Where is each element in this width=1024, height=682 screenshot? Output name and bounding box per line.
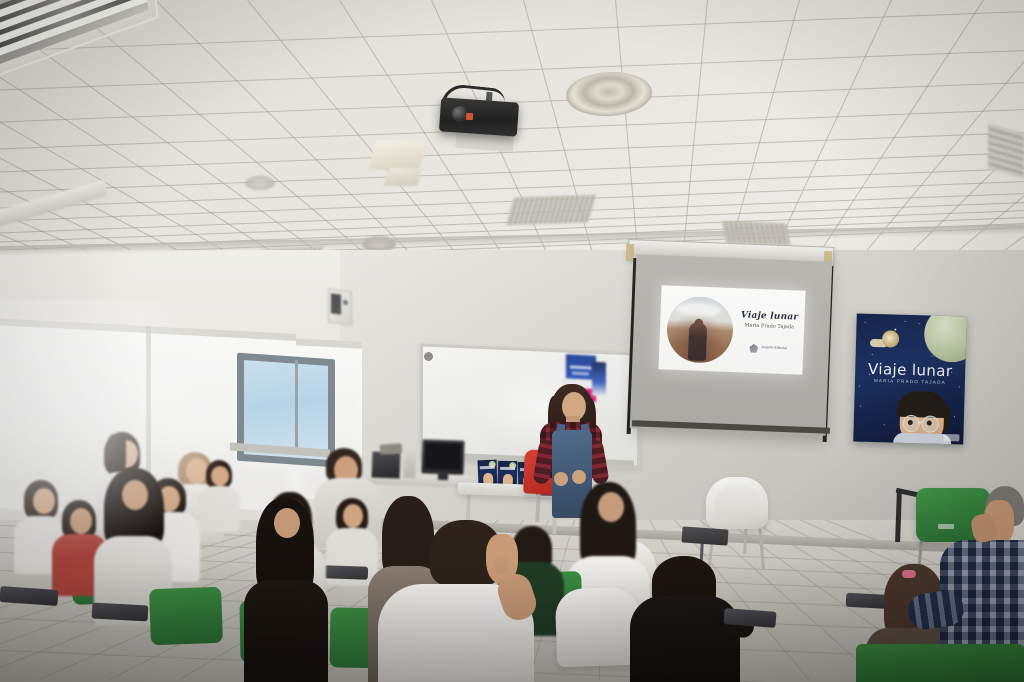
- whiteboard-clip: [424, 352, 433, 361]
- slide-author: Maria Prado Tajada: [738, 322, 800, 330]
- poster-star: [859, 386, 860, 387]
- chair-tablet-arm: [92, 603, 149, 622]
- poster-publisher-badge: [943, 434, 959, 441]
- poster-star: [905, 321, 906, 322]
- hair-tie: [902, 570, 916, 578]
- wall-device-button: [343, 300, 348, 306]
- ceiling-vent: [506, 195, 597, 226]
- audience-chair-white-foreground[interactable]: [555, 587, 642, 668]
- white-chair-seat-inner: [714, 484, 760, 518]
- poster-star: [959, 386, 960, 387]
- ceiling-grid-band: [0, 48, 1024, 92]
- poster-star: [884, 424, 885, 425]
- publisher-logo-icon: [749, 344, 758, 353]
- book-title-bar: [500, 467, 515, 470]
- poster-boy-eye-left: [908, 420, 913, 425]
- projected-slide: Viaje lunar Maria Prado Tajada Amarillo …: [658, 285, 805, 374]
- person-torso: [630, 596, 740, 682]
- chair-tablet-arm: [324, 565, 368, 580]
- poster-star: [860, 406, 861, 407]
- computer-tower: [403, 446, 416, 478]
- av-equipment-box: [372, 452, 401, 479]
- person-ear: [494, 556, 508, 574]
- poster-star: [932, 356, 933, 357]
- person-head: [274, 508, 300, 538]
- ceiling-speaker-secondary: [245, 176, 275, 190]
- small-side-table[interactable]: [681, 526, 728, 545]
- audience-chair-green[interactable]: [149, 587, 223, 645]
- publisher-logo-text: Amarillo Editorial: [761, 345, 787, 351]
- ceiling-panel-light: [367, 140, 429, 170]
- presenter-hand-left: [554, 472, 568, 486]
- slide-photo-sky: [676, 302, 723, 318]
- monitor-screen: [425, 442, 462, 469]
- person-torso: [244, 580, 328, 682]
- poster-glasses-bridge: [918, 421, 923, 423]
- ceiling-grid-line: [682, 0, 708, 260]
- presenter-hand-right: [572, 470, 586, 484]
- slide-title: Viaje lunar: [740, 310, 798, 322]
- book-cover-poster: Viaje lunar MARIA PRADO TAJADA: [853, 313, 967, 444]
- book-title-bar: [480, 466, 495, 470]
- poster-star: [872, 354, 873, 355]
- poster-star: [919, 323, 920, 324]
- window-mullion: [295, 360, 298, 448]
- green-chair-label: [938, 524, 954, 529]
- slide-photo-circle: [666, 296, 734, 364]
- slide-photo-person-body: [688, 322, 707, 361]
- person-head: [343, 504, 363, 528]
- classroom-scene: Viaje lunar Maria Prado Tajada Amarillo …: [0, 0, 1024, 682]
- monitor-stand: [438, 472, 448, 480]
- wall-device-screen: [331, 293, 341, 314]
- audience-chair-green-foreground[interactable]: [856, 644, 1024, 682]
- person-head: [598, 492, 624, 522]
- ceiling-projector: [439, 97, 519, 136]
- window-glare: [0, 300, 240, 560]
- poster-boy-eye-right: [927, 420, 932, 425]
- ceiling-grid-line: [615, 0, 639, 260]
- projector-indicator: [466, 113, 473, 120]
- poster-star: [954, 416, 955, 417]
- slide-publisher-logo: Amarillo Editorial: [749, 343, 789, 357]
- poster-star: [865, 322, 866, 323]
- ceiling-panel-light-secondary: [383, 168, 423, 186]
- desk-clutter: [380, 443, 403, 455]
- poster-snail-shell: [882, 330, 899, 347]
- poster-snail-icon: [870, 330, 901, 351]
- wall-poster-blue-secondary: [592, 362, 606, 397]
